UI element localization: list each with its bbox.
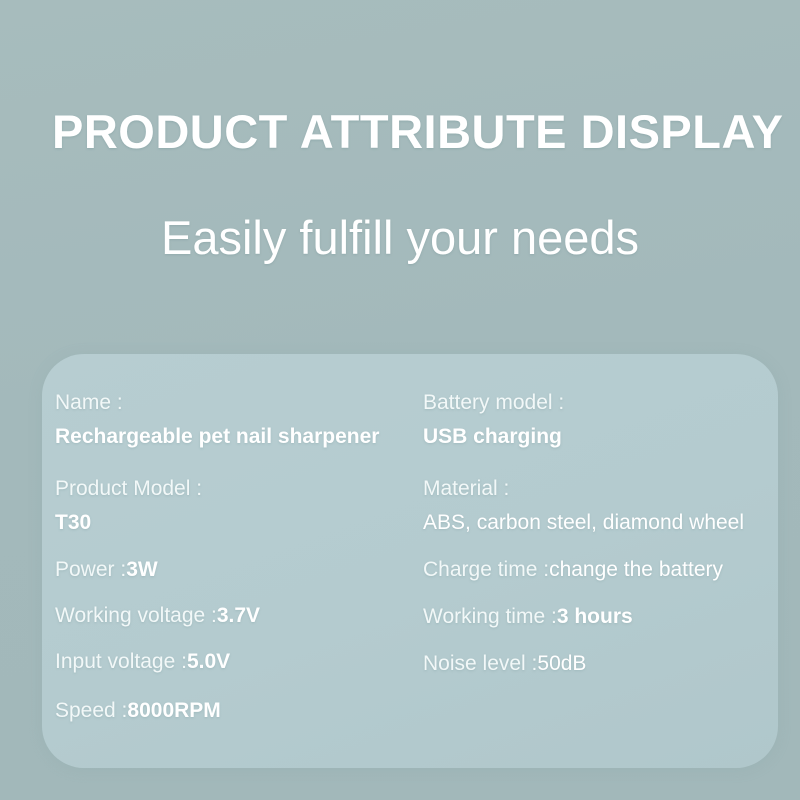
spec-value: 3.7V xyxy=(217,604,260,627)
specification-columns: Name : Rechargeable pet nail sharpener P… xyxy=(42,354,778,768)
specification-panel: Name : Rechargeable pet nail sharpener P… xyxy=(42,354,778,768)
spec-row-input-voltage: Input voltage :5.0V xyxy=(55,649,425,676)
spec-row-product-model: Product Model : T30 xyxy=(55,476,425,537)
spec-label: Working time : xyxy=(423,605,557,628)
page-title: PRODUCT ATTRIBUTE DISPLAY xyxy=(52,104,768,159)
spec-value: 3 hours xyxy=(557,605,633,628)
spec-row-noise-level: Noise level :50dB xyxy=(423,651,773,678)
spec-value: 50dB xyxy=(537,652,586,675)
spec-label: Battery model : xyxy=(423,390,773,417)
spec-value: 8000RPM xyxy=(127,699,220,722)
spec-row-working-time: Working time :3 hours xyxy=(423,604,773,631)
specification-column-right: Battery model : USB charging Material : … xyxy=(423,354,773,768)
spec-value: 5.0V xyxy=(187,650,230,673)
page-subtitle: Easily fulfill your needs xyxy=(0,210,800,265)
spec-label: Noise level : xyxy=(423,652,537,675)
spec-row-charge-time: Charge time :change the battery xyxy=(423,557,773,584)
spec-row-material: Material : ABS, carbon steel, diamond wh… xyxy=(423,476,773,537)
spec-row-power: Power :3W xyxy=(55,557,425,584)
spec-label: Charge time : xyxy=(423,558,549,581)
spec-label: Power : xyxy=(55,558,126,581)
spec-row-battery-model: Battery model : USB charging xyxy=(423,390,773,451)
spec-label: Working voltage : xyxy=(55,604,217,627)
spec-value: ABS, carbon steel, diamond wheel xyxy=(423,510,773,537)
specification-column-left: Name : Rechargeable pet nail sharpener P… xyxy=(55,354,425,768)
spec-row-name: Name : Rechargeable pet nail sharpener xyxy=(55,390,425,451)
spec-value: T30 xyxy=(55,510,425,537)
spec-value: Rechargeable pet nail sharpener xyxy=(55,424,425,451)
product-attribute-display-page: PRODUCT ATTRIBUTE DISPLAY Easily fulfill… xyxy=(0,0,800,800)
spec-value: change the battery xyxy=(549,558,723,581)
spec-label: Material : xyxy=(423,476,773,503)
spec-value: 3W xyxy=(126,558,158,581)
spec-label: Speed : xyxy=(55,699,127,722)
spec-label: Name : xyxy=(55,390,425,417)
spec-label: Product Model : xyxy=(55,476,425,503)
spec-label: Input voltage : xyxy=(55,650,187,673)
spec-value: USB charging xyxy=(423,424,773,451)
spec-row-working-voltage: Working voltage :3.7V xyxy=(55,603,425,630)
spec-row-speed: Speed :8000RPM xyxy=(55,698,425,725)
